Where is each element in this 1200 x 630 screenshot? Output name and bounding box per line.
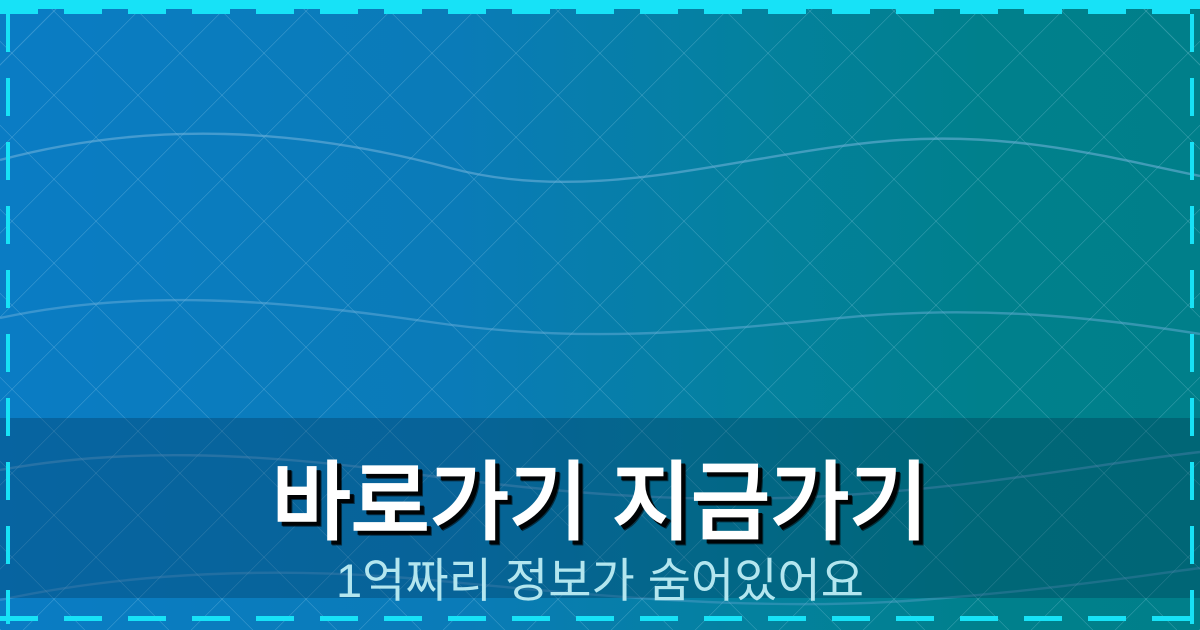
top-accent-bar (0, 0, 1200, 9)
banner-headline: 바로가기 지금가기 (0, 455, 1200, 551)
banner-text-block: 바로가기 지금가기 1억짜리 정보가 숨어있어요 (0, 455, 1200, 609)
promo-banner: 바로가기 지금가기 1억짜리 정보가 숨어있어요 (0, 0, 1200, 630)
top-dashed-border (0, 9, 1200, 14)
bottom-dashed-border (0, 616, 1200, 621)
banner-subheadline: 1억짜리 정보가 숨어있어요 (0, 553, 1200, 609)
